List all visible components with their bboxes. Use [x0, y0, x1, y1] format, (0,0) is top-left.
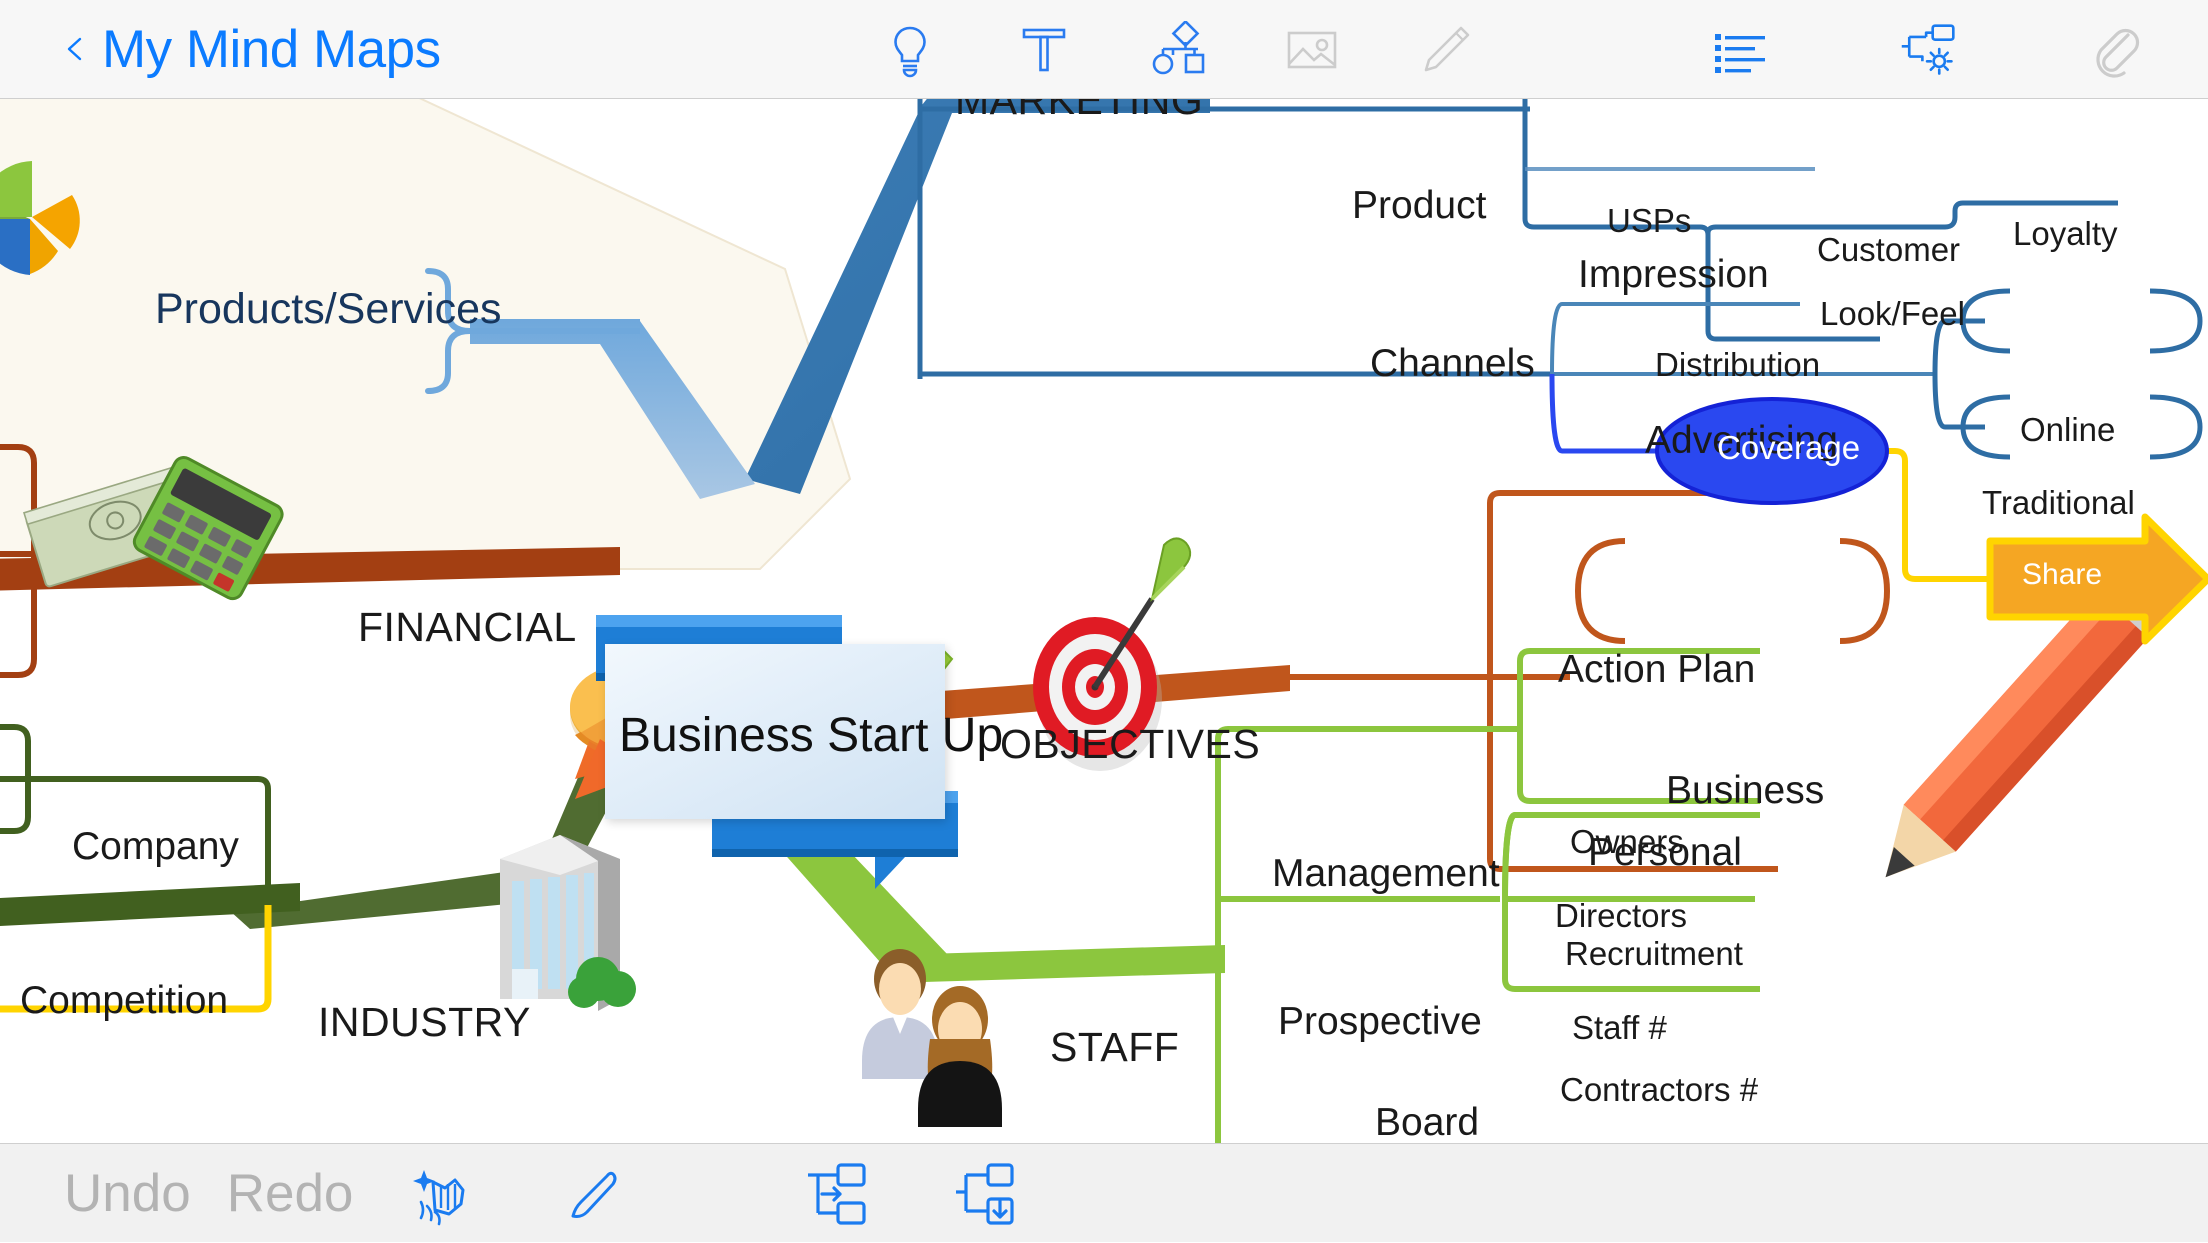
chevron-left-icon — [62, 36, 88, 62]
paperclip-icon[interactable] — [2086, 20, 2146, 80]
redo-button[interactable]: Redo — [227, 1163, 354, 1224]
bottom-toolbar: Undo Redo — [0, 1143, 2208, 1242]
back-button-label: My Mind Maps — [102, 19, 441, 80]
top-toolbar: My Mind Maps — [0, 0, 2208, 99]
center-node-banners-layer — [0, 99, 2208, 1143]
mindmap-canvas[interactable]: MARKETING Products/Services FINANCIAL OB… — [0, 99, 2208, 1143]
shapes-icon[interactable] — [1148, 20, 1208, 80]
insert-sibling-icon[interactable] — [800, 1159, 870, 1229]
insert-child-icon[interactable] — [948, 1159, 1018, 1229]
image-icon[interactable] — [1282, 20, 1342, 80]
brush-icon[interactable] — [558, 1159, 628, 1229]
center-tool-group — [880, 0, 1476, 99]
idea-bulb-icon[interactable] — [880, 20, 940, 80]
bottom-tool-group-left — [410, 1144, 628, 1243]
undo-button[interactable]: Undo — [64, 1163, 191, 1224]
magic-clean-icon[interactable] — [410, 1159, 480, 1229]
branch-settings-icon[interactable] — [1898, 20, 1958, 80]
center-node-label[interactable]: Business Start Up — [619, 708, 1003, 763]
back-button[interactable]: My Mind Maps — [62, 19, 441, 80]
text-icon[interactable] — [1014, 20, 1074, 80]
pencil-icon[interactable] — [1416, 20, 1476, 80]
right-tool-group — [1710, 0, 2146, 99]
bottom-tool-group-right — [800, 1144, 1018, 1243]
outline-list-icon[interactable] — [1710, 20, 1770, 80]
